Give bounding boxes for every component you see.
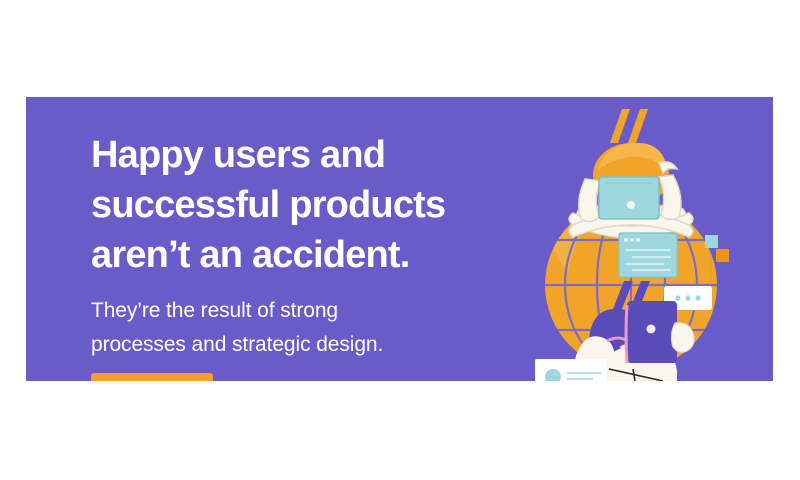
teal-window-card <box>619 233 677 277</box>
white-profile-card <box>535 359 607 381</box>
globe-illustration <box>523 97 773 381</box>
orange-slash-marks-top <box>610 109 648 143</box>
seated-person-with-laptop <box>569 143 693 238</box>
hero-banner: Happy users and successful products aren… <box>26 97 773 381</box>
page-title: Happy users and successful products aren… <box>91 130 571 280</box>
hero-copy-block: Happy users and successful products aren… <box>91 130 571 362</box>
hero-subtitle: They’re the result of strong processes a… <box>91 294 571 362</box>
cta-button[interactable] <box>91 373 213 381</box>
teal-square-accent <box>705 235 718 248</box>
orange-square-accent <box>716 249 729 262</box>
